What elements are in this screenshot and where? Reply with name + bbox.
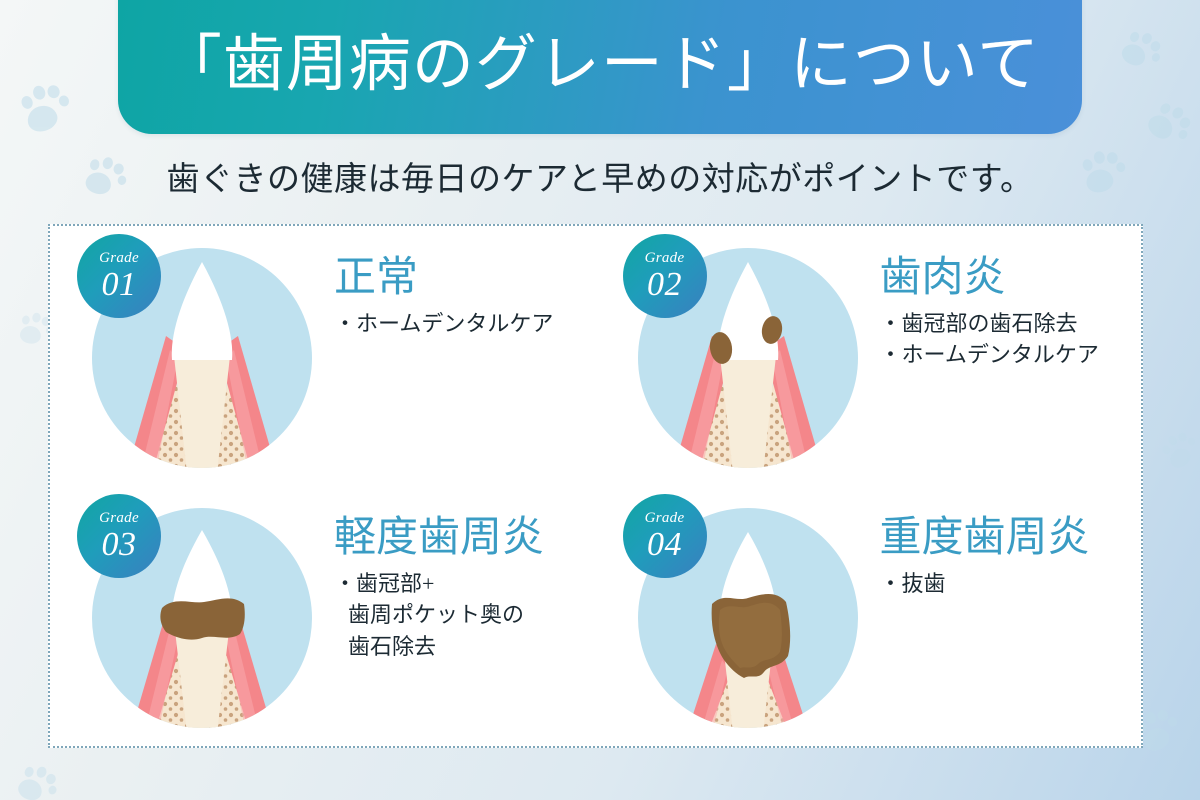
grade-text-block-01: 正常 ・ホームデンタルケア [326, 226, 553, 339]
paw-print-icon [1112, 20, 1175, 83]
paw-print-icon [10, 70, 83, 143]
badge-word: Grade [99, 251, 139, 266]
grade-badge-04: Grade 04 [623, 494, 707, 578]
title-banner: 「歯周病のグレード」について [118, 0, 1082, 134]
bullet-item: ・歯冠部の歯石除去 [880, 308, 1099, 339]
grade-badge-01: Grade 01 [77, 234, 161, 318]
tooth-illustration-mild-periodontitis: Grade 03 [74, 492, 326, 744]
paw-toe [58, 94, 71, 108]
page-title: 「歯周病のグレード」について [160, 24, 1040, 96]
paw-toe [21, 315, 30, 325]
paw-toe [1167, 716, 1179, 728]
badge-word: Grade [645, 251, 685, 266]
grade-card-01[interactable]: Grade 01 正常 ・ホームデンタルケア [50, 226, 596, 486]
badge-number: 01 [102, 268, 137, 302]
bullet-item: 歯周ポケット奥の [334, 599, 544, 630]
paw-toe [45, 772, 58, 785]
grades-grid: Grade 01 正常 ・ホームデンタルケア [50, 226, 1141, 746]
grade-card-04[interactable]: Grade 04 重度歯周炎 ・抜歯 [596, 486, 1142, 746]
paw-toe [1158, 101, 1172, 115]
paw-print-icon [1136, 90, 1200, 159]
grade-title-04: 重度歯周炎 [880, 516, 1090, 560]
paw-toe [32, 312, 42, 323]
badge-number: 02 [647, 268, 682, 302]
paw-pad [1118, 40, 1149, 69]
grade-text-block-04: 重度歯周炎 ・抜歯 [872, 486, 1090, 599]
grade-text-block-02: 歯肉炎 ・歯冠部の歯石除去 ・ホームデンタルケア [872, 226, 1099, 371]
paw-toe [1150, 52, 1161, 64]
paw-toe [1149, 39, 1162, 53]
grade-bullets-04: ・抜歯 [880, 568, 1090, 599]
paw-toe [47, 784, 58, 795]
bullet-item: ・歯冠部+ [334, 568, 544, 599]
grade-card-02[interactable]: Grade 02 歯肉炎 ・歯冠部の歯石除去 ・ホームデンタルケア [596, 226, 1142, 486]
grade-title-01: 正常 [334, 256, 553, 300]
paw-toe [1128, 30, 1141, 43]
bullet-item: ・抜歯 [880, 568, 1090, 599]
grade-bullets-03: ・歯冠部+ 歯周ポケット奥の 歯石除去 [334, 568, 544, 662]
tooth-illustration-severe-periodontitis: Grade 04 [620, 492, 872, 744]
paw-toe [1177, 128, 1190, 141]
grade-text-block-03: 軽度歯周炎 ・歯冠部+ 歯周ポケット奥の 歯石除去 [326, 486, 544, 662]
infographic-page: 「歯周病のグレード」について 歯ぐきの健康は毎日のケアと早めの対応がポイントです… [0, 0, 1200, 800]
grade-title-02: 歯肉炎 [880, 256, 1099, 300]
badge-word: Grade [645, 511, 685, 526]
grade-badge-03: Grade 03 [77, 494, 161, 578]
grade-badge-02: Grade 02 [623, 234, 707, 318]
paw-toe [20, 95, 34, 111]
paw-toe [1186, 436, 1196, 447]
grade-bullets-01: ・ホームデンタルケア [334, 308, 553, 339]
paw-toe [23, 765, 35, 778]
grade-title-03: 軽度歯周炎 [334, 516, 544, 560]
badge-number: 04 [647, 528, 682, 562]
badge-word: Grade [99, 511, 139, 526]
bullet-item: 歯石除去 [334, 631, 544, 662]
bullet-item: ・ホームデンタルケア [880, 339, 1099, 370]
paw-pad [19, 325, 42, 345]
paw-print-icon [9, 755, 69, 800]
bullet-item: ・ホームデンタルケア [334, 308, 553, 339]
page-subtitle: 歯ぐきの健康は毎日のケアと早めの対応がポイントです。 [0, 152, 1200, 200]
paw-toe [1144, 710, 1158, 725]
tooth-illustration-healthy: Grade 01 [74, 232, 326, 484]
grade-bullets-02: ・歯冠部の歯石除去 ・ホームデンタルケア [880, 308, 1099, 370]
badge-number: 03 [102, 528, 137, 562]
tooth-illustration-gingivitis: Grade 02 [620, 232, 872, 484]
paw-pad [15, 776, 45, 800]
paw-toe [31, 84, 47, 101]
grade-card-03[interactable]: Grade 03 軽度歯周炎 ・歯冠部+ 歯周ポケット奥の 歯石除去 [50, 486, 596, 746]
grades-panel: Grade 01 正常 ・ホームデンタルケア [48, 224, 1143, 748]
paw-print-icon [1152, 420, 1200, 478]
